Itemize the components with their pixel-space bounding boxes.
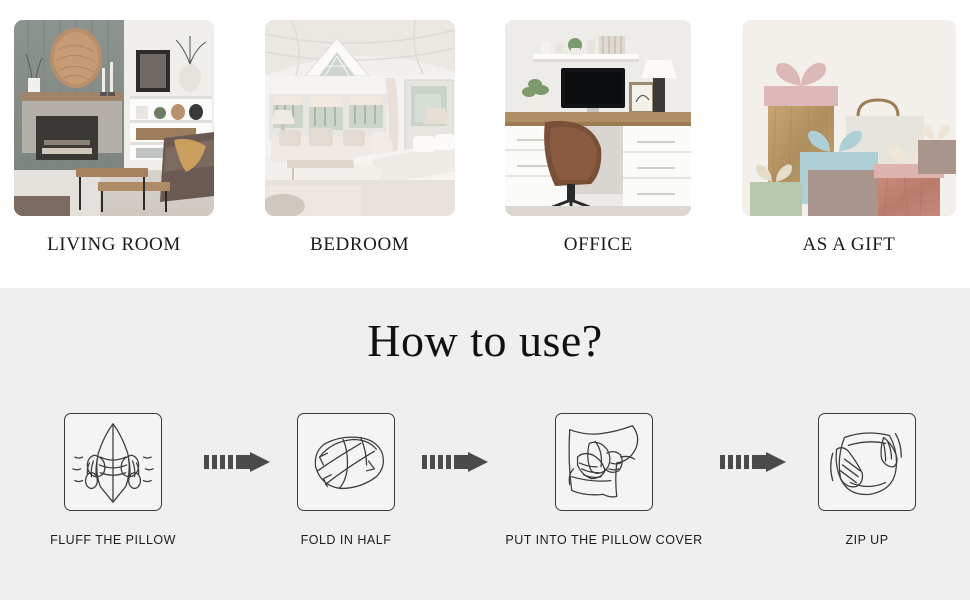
- usecase-item-office[interactable]: OFFICE: [505, 20, 691, 270]
- howto-step-label: PUT INTO THE PILLOW COVER: [505, 533, 702, 547]
- bedroom-photo[interactable]: [265, 20, 455, 216]
- usecase-row: LIVING ROOM: [0, 20, 970, 270]
- howto-steps-row: FLUFF THE PILLOW: [0, 413, 970, 563]
- usecase-section: LIVING ROOM: [0, 0, 970, 288]
- usecase-label: LIVING ROOM: [47, 234, 181, 256]
- howto-section: How to use?: [0, 288, 970, 600]
- dashed-right-arrow-icon: [714, 413, 792, 511]
- howto-step-label: ZIP UP: [845, 533, 888, 547]
- product-detail-page: LIVING ROOM: [0, 0, 970, 600]
- usecase-item-gift[interactable]: AS A GIFT: [742, 20, 956, 270]
- dashed-right-arrow-icon: [416, 413, 494, 511]
- living-room-photo[interactable]: [14, 20, 214, 216]
- howto-step-label: FLUFF THE PILLOW: [50, 533, 176, 547]
- usecase-label: OFFICE: [564, 234, 633, 256]
- folded-pillow-icon: [297, 413, 395, 511]
- office-photo[interactable]: [505, 20, 691, 216]
- usecase-item-bedroom[interactable]: BEDROOM: [265, 20, 455, 270]
- usecase-label: BEDROOM: [310, 234, 409, 256]
- howto-title: How to use?: [0, 314, 970, 367]
- howto-step-label: FOLD IN HALF: [301, 533, 392, 547]
- howto-step-put-into-cover: PUT INTO THE PILLOW COVER: [494, 413, 714, 547]
- howto-step-fold-in-half: FOLD IN HALF: [276, 413, 416, 547]
- usecase-item-living-room[interactable]: LIVING ROOM: [14, 20, 214, 270]
- hands-fluffing-pillow-icon: [64, 413, 162, 511]
- dashed-right-arrow-icon: [198, 413, 276, 511]
- usecase-label: AS A GIFT: [802, 234, 895, 256]
- howto-step-zip-up: ZIP UP: [792, 413, 942, 547]
- gift-boxes-photo[interactable]: [742, 20, 956, 216]
- hands-zipping-pillow-icon: [818, 413, 916, 511]
- howto-step-fluff-the-pillow: FLUFF THE PILLOW: [28, 413, 198, 547]
- hands-inserting-pillow-icon: [555, 413, 653, 511]
